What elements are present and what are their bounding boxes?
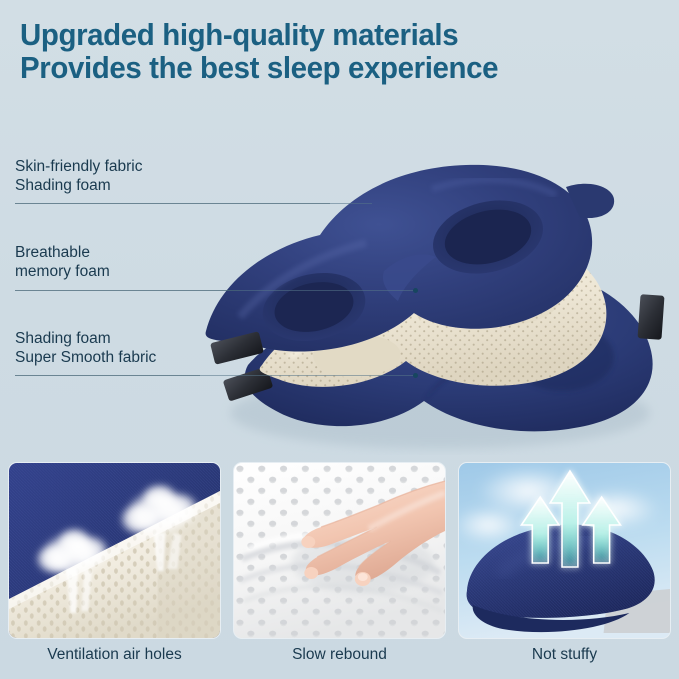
callout-1-rule — [15, 290, 240, 291]
panel-slow-rebound — [233, 462, 446, 639]
callout-2-line-1: Shading foam — [15, 330, 156, 349]
panel-captions: Ventilation air holes Slow rebound Not s… — [8, 645, 671, 665]
callout-2-leader-dot — [413, 373, 418, 378]
callout-0-leader — [330, 203, 372, 204]
panel-ventilation-air-holes — [8, 462, 221, 639]
not-stuffy-image — [459, 463, 670, 638]
callout-0-line-1: Skin-friendly fabric — [15, 158, 143, 177]
callout-1-leader — [240, 290, 415, 291]
infographic-page: Upgraded high-quality materials Provides… — [0, 0, 679, 679]
callout-2-rule — [15, 375, 200, 376]
callout-breathable-memory-foam: Breathable memory foam — [15, 244, 110, 281]
callout-1-line-1: Breathable — [15, 244, 110, 263]
callout-0-line-2: Shading foam — [15, 177, 143, 196]
callout-1-leader-dot — [413, 288, 418, 293]
panel-not-stuffy — [458, 462, 671, 639]
caption-ventilation-air-holes: Ventilation air holes — [8, 645, 221, 665]
caption-not-stuffy: Not stuffy — [458, 645, 671, 665]
ventilation-air-holes-image — [9, 463, 220, 638]
callout-2-leader — [200, 375, 415, 376]
slow-rebound-image — [234, 463, 445, 638]
feature-panels — [8, 462, 671, 637]
callout-2-line-2: Super Smooth fabric — [15, 349, 156, 368]
feature-callouts: Skin-friendly fabric Shading foam Breath… — [0, 0, 679, 455]
callout-skin-friendly-fabric: Skin-friendly fabric Shading foam — [15, 158, 143, 195]
callout-shading-foam-smooth-fabric: Shading foam Super Smooth fabric — [15, 330, 156, 367]
callout-1-line-2: memory foam — [15, 263, 110, 282]
callout-0-rule — [15, 203, 330, 204]
caption-slow-rebound: Slow rebound — [233, 645, 446, 665]
